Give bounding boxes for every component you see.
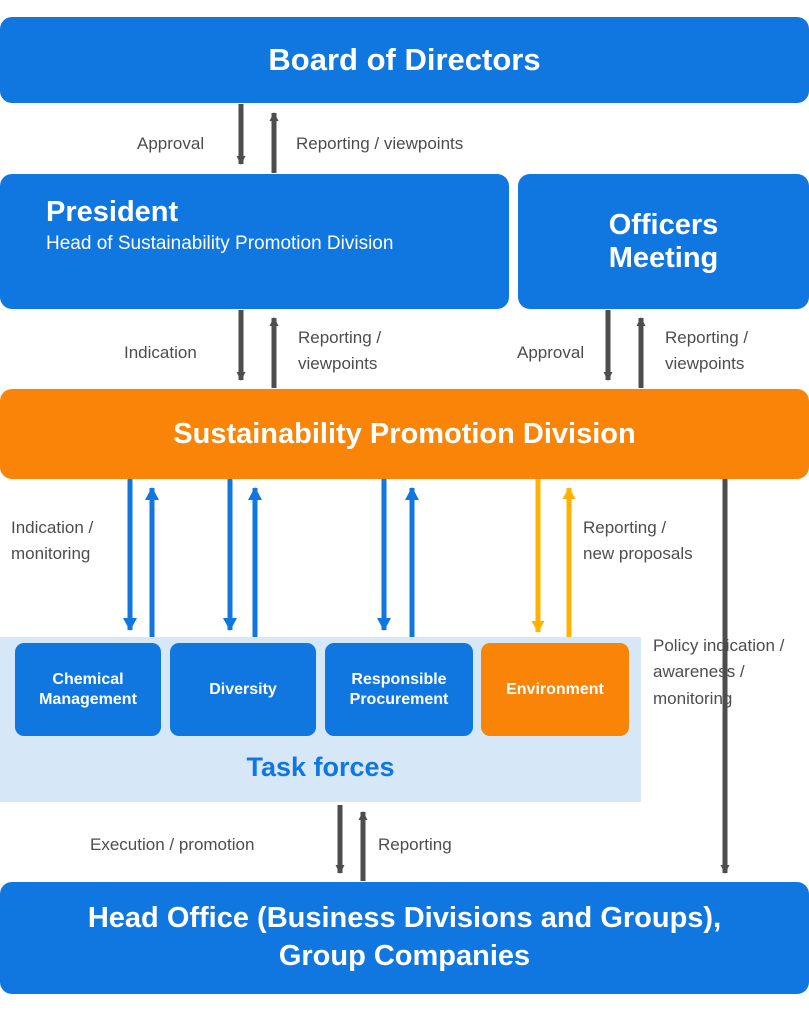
task-force-diversity[interactable]: Diversity bbox=[170, 643, 316, 736]
label-board-approval: Approval bbox=[137, 131, 204, 157]
officers-title: Officers Meeting bbox=[609, 209, 719, 274]
task-force-responsible-procurement[interactable]: Responsible Procurement bbox=[325, 643, 473, 736]
president-title: President bbox=[46, 196, 178, 228]
node-board-of-directors[interactable]: Board of Directors bbox=[0, 17, 809, 103]
node-head-office-group-companies[interactable]: Head Office (Business Divisions and Grou… bbox=[0, 882, 809, 994]
org-chart-diagram: Board of Directors President Head of Sus… bbox=[0, 0, 809, 1011]
label-officers-reporting: Reporting / viewpoints bbox=[665, 325, 748, 378]
node-president[interactable]: President Head of Sustainability Promoti… bbox=[0, 174, 509, 309]
node-sustainability-promotion-division[interactable]: Sustainability Promotion Division bbox=[0, 389, 809, 479]
label-taskforce-indication: Indication / monitoring bbox=[11, 515, 93, 568]
node-officers-meeting[interactable]: Officers Meeting bbox=[518, 174, 809, 309]
label-president-reporting: Reporting / viewpoints bbox=[298, 325, 381, 378]
label-president-indication: Indication bbox=[124, 340, 197, 366]
label-board-reporting: Reporting / viewpoints bbox=[296, 131, 463, 157]
label-head-office-reporting: Reporting bbox=[378, 832, 452, 858]
spd-title: Sustainability Promotion Division bbox=[173, 418, 635, 450]
task-force-chemical-management[interactable]: Chemical Management bbox=[15, 643, 161, 736]
president-subtitle: Head of Sustainability Promotion Divisio… bbox=[46, 233, 393, 256]
head-office-title: Head Office (Business Divisions and Grou… bbox=[88, 900, 721, 975]
label-execution-promotion: Execution / promotion bbox=[90, 832, 254, 858]
task-force-environment[interactable]: Environment bbox=[481, 643, 629, 736]
board-title: Board of Directors bbox=[268, 43, 540, 78]
label-taskforce-reporting: Reporting / new proposals bbox=[583, 515, 693, 568]
label-officers-approval: Approval bbox=[517, 340, 584, 366]
label-policy-indication: Policy indication / awareness / monitori… bbox=[653, 633, 784, 712]
task-forces-group-label: Task forces bbox=[0, 752, 641, 783]
